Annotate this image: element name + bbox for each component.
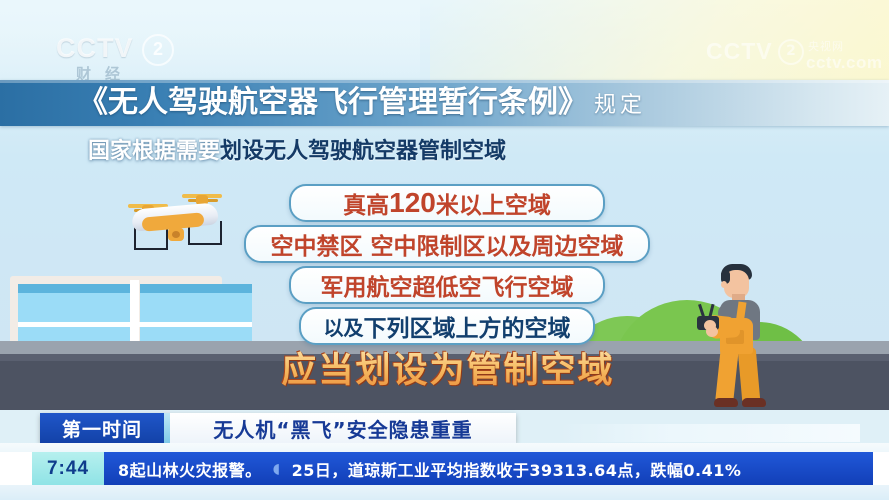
operator-leg [738,347,761,402]
pill-suffix: 米以上空域 [436,186,551,220]
broadcast-screen: CCTV 2 财经 CCTV 2 央视网 cctv.com 《无人驾驶航空器飞行… [0,0,889,500]
building-window [140,284,252,342]
operator-ear [721,281,727,288]
watermark-text: CCTV [706,38,773,64]
cctv-logo-text: CCTV [56,33,134,63]
pill-text: 军用航空超低空飞行空域 [321,268,574,302]
news-headline: 无人机“黑飞”安全隐患重重 [170,413,516,443]
list-item: 空中禁区 空中限制区以及周边空域 [244,225,650,263]
subtitle-line: 国家根据需要划设无人驾驶航空器管制空域 [88,136,506,168]
list-item: 以及下列区域上方的空域 [299,307,595,345]
watermark-domain: cctv.com [806,53,882,73]
operator-hand [706,326,718,337]
pill-text: 下列区域上方的空域 [364,309,571,343]
subtitle-dark-part: 划设无人驾驶航空器管制空域 [220,139,506,164]
ticker-separator-icon: ◖ [262,461,292,477]
ticker-top-strip [0,443,889,452]
lower-third-banner: 第一时间 无人机“黑飞”安全隐患重重 [40,413,516,443]
operator-shoe [714,398,738,407]
drone-operator-illustration [690,264,786,410]
news-ticker: 7:44 8起山林火灾报警。 ◖ 25日，道琼斯工业平均指数收于39313.64… [0,452,889,485]
list-item: 真高120米以上空域 [289,184,605,222]
ticker-base-strip [0,485,889,500]
pill-lead: 以及 [324,312,364,341]
program-tag: 第一时间 [40,413,164,443]
operator-shoe [742,398,766,407]
pill-text: 空中禁区 空中限制区以及周边空域 [270,227,623,261]
list-item: 军用航空超低空飞行空域 [289,266,605,304]
operator-leg [715,347,739,403]
page-title: 《无人驾驶航空器飞行管理暂行条例》规定 [78,81,646,125]
conclusion-text: 应当划设为管制空域 [268,348,628,394]
subtitle-white-part: 国家根据需要 [88,139,220,164]
drone-camera-lens-icon [172,231,180,238]
pill-highlight-number: 120 [389,187,436,219]
lower-third-swoosh [560,424,860,442]
ticker-left-pad [0,452,32,485]
cctv-watermark: CCTV 2 央视网 cctv.com [706,38,876,78]
ticker-right-pad [873,452,889,485]
ticker-item-2: 25日，道琼斯工业平均指数收于39313.64点，跌幅0.41% [292,457,742,481]
watermark-number: 2 [778,39,804,65]
title-suffix-text: 规定 [594,93,646,118]
clock-display: 7:44 [32,452,104,485]
pill-prefix: 真高 [343,186,389,220]
drone-illustration [108,188,240,266]
watermark-cn-label: 央视网 [808,38,844,54]
ticker-text: 8起山林火灾报警。 ◖ 25日，道琼斯工业平均指数收于39313.64点，跌幅0… [104,452,873,485]
cctv2-channel-logo: CCTV 2 财经 [56,33,184,83]
building-mullion [130,280,139,342]
cctv-logo-number: 2 [142,34,174,66]
ticker-item-1: 8起山林火灾报警。 [118,457,262,481]
title-main-text: 《无人驾驶航空器飞行管理暂行条例》 [78,85,588,120]
building-window [18,284,130,342]
building-mullion [18,322,252,327]
